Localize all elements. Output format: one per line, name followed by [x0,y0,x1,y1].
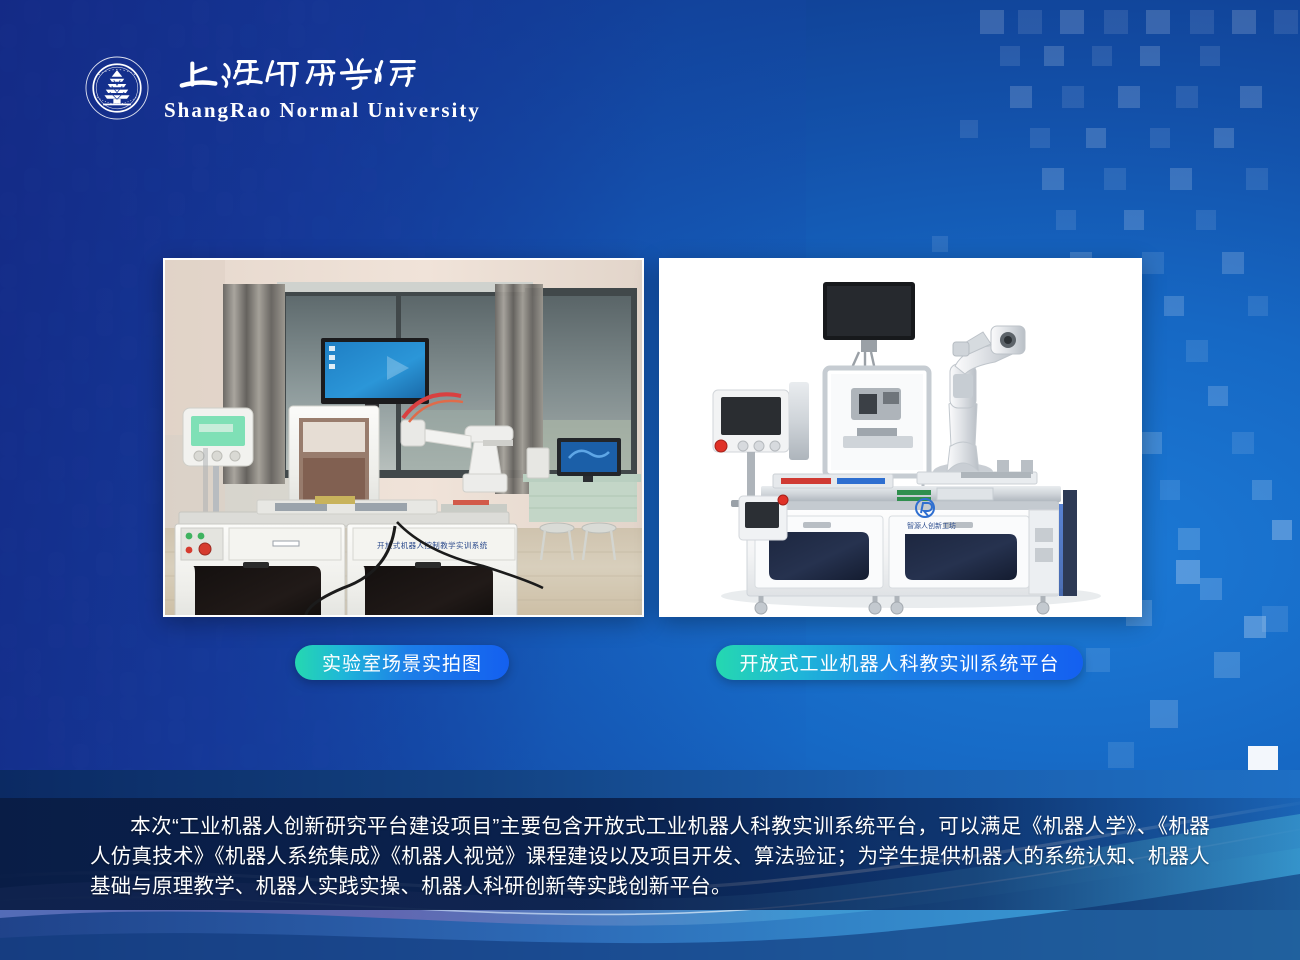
caption-pill-lab-scene[interactable]: 实验室场景实拍图 [295,645,509,680]
photo-platform-render[interactable]: 智源人创新工坊 [659,258,1142,617]
paragraph-text: 本次“工业机器人创新研究平台建设项目”主要包含开放式工业机器人科教实训系统平台，… [90,815,1210,898]
lab-scene-illustration: 开放式机器人控制教学实训系统 [165,260,642,615]
university-crest-icon [84,55,150,121]
slide-canvas: ShangRao Normal University [0,0,1300,960]
caption-pill-platform[interactable]: 开放式工业机器人科教实训系统平台 [716,645,1083,680]
caption-text: 实验室场景实拍图 [322,649,482,676]
machine-label-right: 智源人创新工坊 [907,521,956,530]
logo-wordmark-cn [164,52,481,96]
platform-render-illustration: 智源人创新工坊 [661,260,1140,615]
description-paragraph: 本次“工业机器人创新研究平台建设项目”主要包含开放式工业机器人科教实训系统平台，… [90,812,1210,902]
photo-lab-scene[interactable]: 开放式机器人控制教学实训系统 [163,258,644,617]
caption-text: 开放式工业机器人科教实训系统平台 [739,649,1059,676]
logo-wordmark-en: ShangRao Normal University [164,98,481,123]
university-logo: ShangRao Normal University [84,52,481,123]
